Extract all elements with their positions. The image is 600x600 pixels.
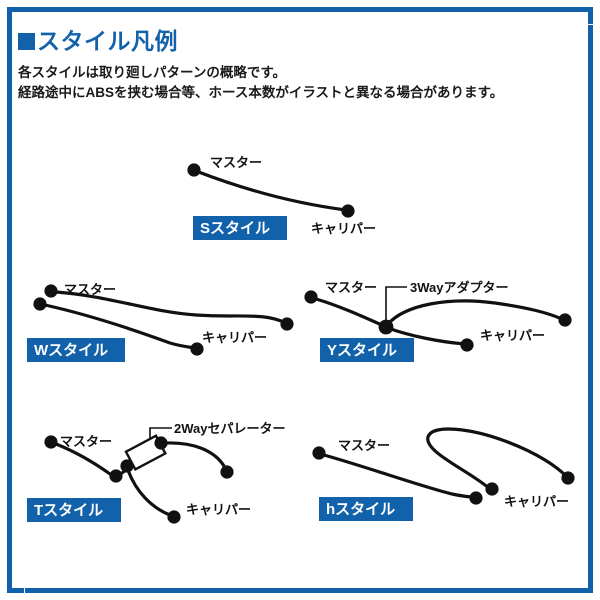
y-style-adapter-label: 3Wayアダプター [410, 280, 508, 295]
t-style-junction-node-2 [120, 459, 133, 472]
w-style-master-label: マスター [64, 282, 116, 297]
diagram-t-style: マスター 2Wayセパレーター キャリパー Tスタイル [27, 421, 285, 524]
t-style-caliper-node-2 [167, 510, 180, 523]
h-style-master-node [312, 446, 325, 459]
t-style-master-label: マスター [60, 434, 112, 449]
h-style-caliper-node-1 [469, 491, 482, 504]
t-style-hose-branch-right [166, 443, 224, 466]
diagram-h-style: マスター キャリパー hスタイル [312, 429, 574, 521]
y-style-caliper-node-2 [460, 338, 473, 351]
style-legend-page: スタイル凡例 各スタイルは取り廻しパターンの概略です。 経路途中にABSを挟む場… [0, 0, 600, 600]
y-style-hose-master [316, 299, 384, 326]
t-style-separator-label: 2Wayセパレーター [174, 421, 285, 436]
h-style-caliper-node-2 [485, 482, 498, 495]
y-style-badge-label: Yスタイル [327, 342, 397, 359]
t-style-caliper-node-1 [220, 465, 233, 478]
diagram-w-style: マスター キャリパー Wスタイル [27, 282, 294, 362]
w-style-master-node-1 [44, 284, 57, 297]
y-style-master-label: マスター [325, 280, 377, 295]
s-style-master-node [187, 163, 200, 176]
t-style-separator-node [154, 436, 167, 449]
y-style-caliper-label: キャリパー [480, 328, 545, 343]
t-style-master-node [44, 435, 57, 448]
w-style-caliper-label: キャリパー [202, 330, 267, 345]
y-style-caliper-node-1 [558, 313, 571, 326]
t-style-badge-label: Tスタイル [34, 502, 103, 519]
w-style-caliper-node-1 [280, 317, 293, 330]
style-diagrams: マスター キャリパー Sスタイル マスター キャリパー Wスタイル [0, 0, 600, 600]
diagram-y-style: マスター 3Wayアダプター キャリパー Yスタイル [304, 280, 571, 362]
y-style-hose-branch-upper [387, 301, 562, 325]
h-style-badge-label: hスタイル [326, 501, 395, 518]
t-style-junction-node-1 [109, 469, 122, 482]
y-style-master-node [304, 290, 317, 303]
w-style-master-node-2 [33, 297, 46, 310]
s-style-caliper-label: キャリパー [311, 221, 376, 236]
s-style-master-label: マスター [210, 155, 262, 170]
s-style-hose [196, 171, 346, 210]
s-style-caliper-node [341, 204, 354, 217]
h-style-caliper-label: キャリパー [504, 494, 569, 509]
t-style-caliper-label: キャリパー [186, 502, 251, 517]
t-style-hose-branch-down [128, 470, 170, 515]
h-style-master-label: マスター [338, 438, 390, 453]
h-style-caliper-node-3 [561, 471, 574, 484]
y-style-adapter-node [379, 320, 394, 335]
s-style-badge-label: Sスタイル [200, 220, 270, 237]
h-style-hose-loop [428, 429, 566, 489]
diagram-s-style: マスター キャリパー Sスタイル [187, 155, 376, 240]
w-style-badge-label: Wスタイル [34, 342, 108, 359]
